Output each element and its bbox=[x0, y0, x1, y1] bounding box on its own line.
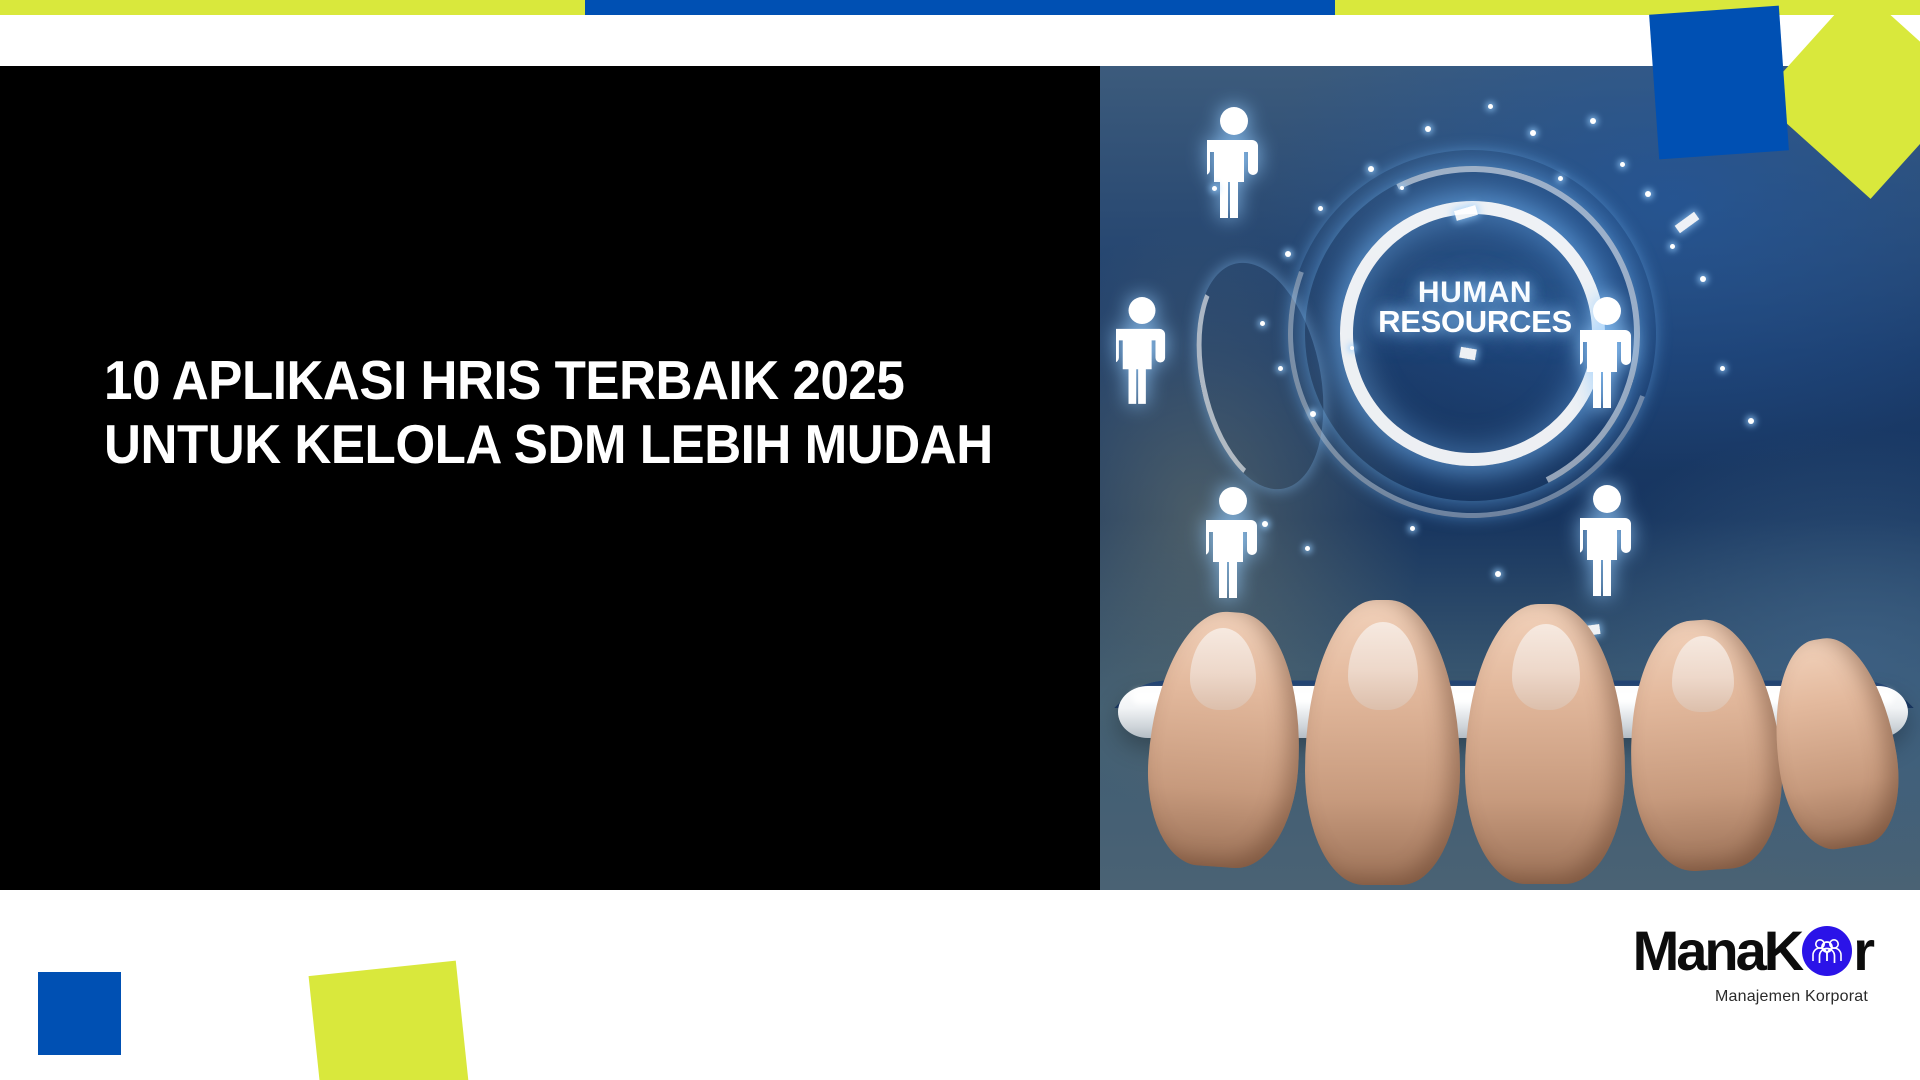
sparkle-dot bbox=[1488, 104, 1493, 109]
person-icon-right bbox=[1580, 296, 1634, 408]
sparkle-dot bbox=[1310, 411, 1316, 417]
sparkle-dot bbox=[1410, 526, 1415, 531]
sparkle-dot bbox=[1305, 546, 1310, 551]
logo-text-part-1: Mana bbox=[1633, 923, 1764, 979]
sparkle-dot bbox=[1590, 118, 1596, 124]
sparkle-dot bbox=[1425, 126, 1431, 132]
headline-block: 10 APLIKASI HRIS TERBAIK 2025 UNTUK KELO… bbox=[104, 348, 1044, 477]
sparkle-dot bbox=[1262, 521, 1268, 527]
sparkle-dot bbox=[1285, 251, 1291, 257]
sparkle-dot bbox=[1260, 321, 1265, 326]
headline-line-1: 10 APLIKASI HRIS TERBAIK 2025 bbox=[104, 348, 978, 412]
top-accent-bar bbox=[0, 0, 1920, 15]
sparkle-dot bbox=[1350, 346, 1354, 350]
accent-bar-segment-yellow-right bbox=[1335, 0, 1920, 15]
brand-logo: Mana K r Manajemen Korporat bbox=[1552, 920, 1872, 1030]
hero-photo: HUMAN RESOURCES bbox=[1100, 66, 1920, 890]
brand-logo-tagline: Manajemen Korporat bbox=[1552, 988, 1872, 1006]
sparkle-dot bbox=[1212, 186, 1217, 191]
people-group-icon bbox=[1802, 926, 1852, 976]
sparkle-dot bbox=[1368, 166, 1374, 172]
content-band: 10 APLIKASI HRIS TERBAIK 2025 UNTUK KELO… bbox=[0, 66, 1920, 890]
sparkle-dot bbox=[1495, 571, 1501, 577]
sparkle-dot bbox=[1400, 186, 1404, 190]
sparkle-dot bbox=[1530, 130, 1536, 136]
person-icon-top-left bbox=[1207, 106, 1261, 218]
sparkle-dot bbox=[1318, 206, 1323, 211]
accent-bar-segment-blue bbox=[585, 0, 1335, 15]
hologram-label: HUMAN RESOURCES bbox=[1340, 278, 1610, 338]
thumb bbox=[1760, 630, 1909, 856]
sparkle-dot bbox=[1645, 191, 1651, 197]
hologram-label-line-1: HUMAN bbox=[1340, 278, 1610, 307]
sparkle-dot bbox=[1670, 244, 1675, 249]
brand-logo-wordmark: Mana K r bbox=[1552, 920, 1872, 982]
decor-square-blue-top-right bbox=[1649, 6, 1789, 160]
sparkle-dot bbox=[1278, 366, 1283, 371]
sparkle-dot bbox=[1620, 162, 1625, 167]
headline-panel: 10 APLIKASI HRIS TERBAIK 2025 UNTUK KELO… bbox=[0, 66, 1100, 890]
decor-square-lime-bottom-left bbox=[309, 961, 472, 1080]
person-icon-middle-left bbox=[1116, 296, 1168, 404]
sparkle-dot bbox=[1558, 176, 1563, 181]
sparkle-dot bbox=[1700, 276, 1706, 282]
hand bbox=[1140, 580, 1900, 890]
headline-line-2: UNTUK KELOLA SDM LEBIH MUDAH bbox=[104, 412, 978, 476]
sparkle-dot bbox=[1748, 418, 1754, 424]
decor-square-blue-bottom-left bbox=[38, 972, 121, 1055]
accent-bar-segment-yellow-left bbox=[0, 0, 585, 15]
logo-text-part-3: r bbox=[1853, 923, 1872, 979]
sparkle-dot bbox=[1720, 366, 1725, 371]
hologram-label-line-2: RESOURCES bbox=[1340, 307, 1610, 337]
logo-text-part-2: K bbox=[1764, 923, 1801, 979]
